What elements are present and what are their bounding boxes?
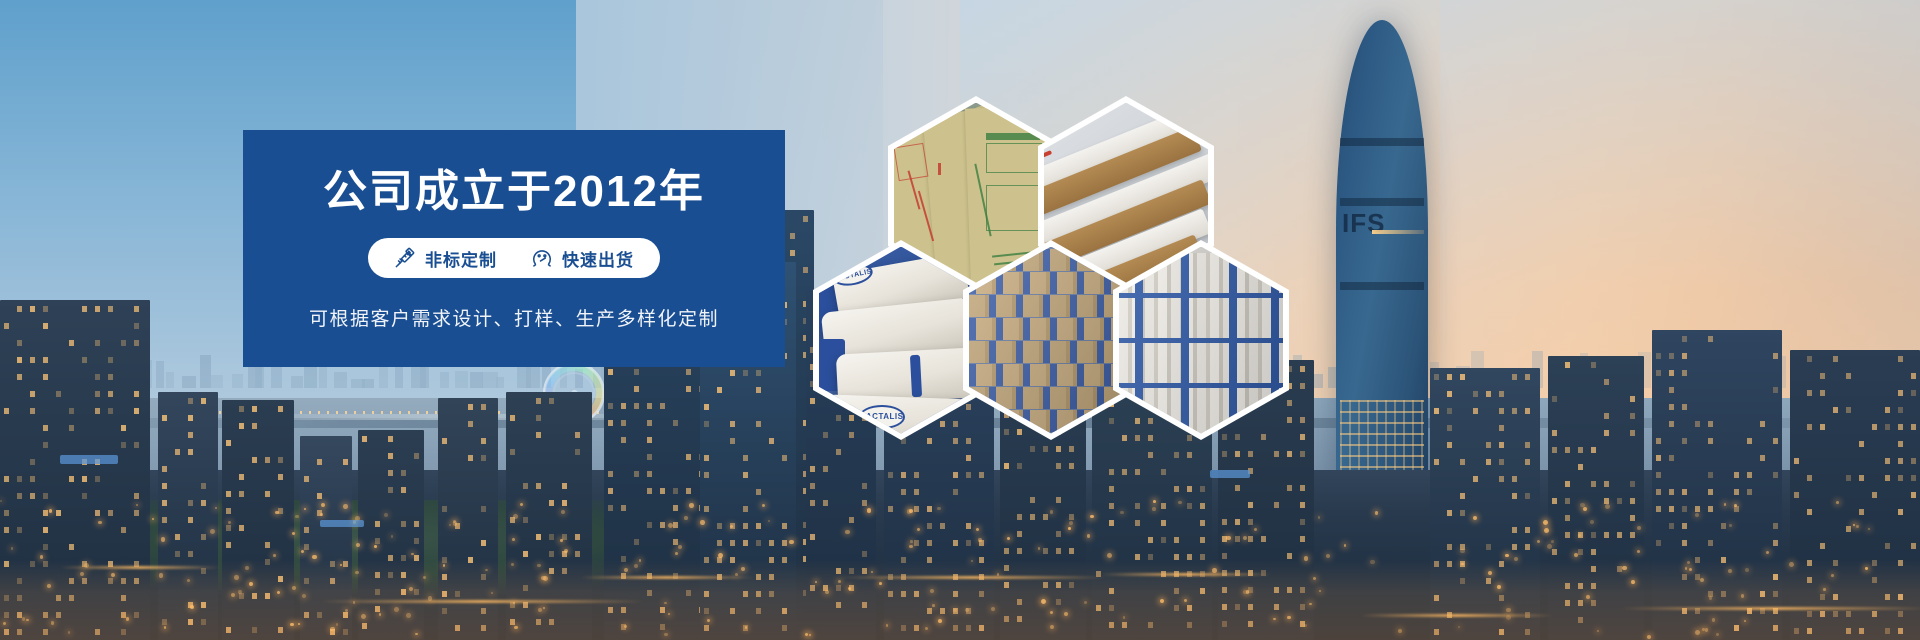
street-light — [1041, 599, 1046, 604]
street-light — [1728, 569, 1732, 573]
street-light — [1064, 612, 1068, 616]
street-light — [561, 510, 565, 514]
street-light — [965, 608, 969, 612]
street-light — [809, 634, 811, 636]
street-light — [930, 589, 934, 593]
street-light — [391, 535, 393, 537]
street-light — [867, 508, 871, 512]
street-light — [406, 613, 411, 618]
street-light — [1695, 630, 1700, 635]
street-light — [1152, 507, 1156, 511]
hero-banner: IFS — [0, 0, 1920, 640]
street-light — [275, 511, 278, 514]
tower-band — [1340, 282, 1425, 290]
street-light — [513, 514, 518, 519]
street-light — [707, 619, 710, 622]
street-light — [1370, 560, 1375, 565]
street-light — [1687, 561, 1690, 564]
street-light — [1836, 501, 1839, 504]
page-title: 公司成立于2012年 — [323, 170, 705, 214]
street-light — [1506, 608, 1511, 613]
street-light — [1551, 540, 1554, 543]
street-light — [336, 623, 338, 625]
street-light — [47, 584, 51, 588]
street-light — [689, 503, 694, 508]
street-light — [273, 554, 276, 557]
street-light — [1631, 580, 1635, 584]
street-light — [355, 571, 358, 574]
street-light — [345, 609, 348, 612]
street-light — [678, 545, 682, 549]
street-light — [312, 555, 316, 559]
street-light — [512, 538, 515, 541]
street-light — [1831, 574, 1834, 577]
street-light — [159, 573, 163, 577]
street-light — [361, 614, 366, 619]
building-sign — [1210, 470, 1250, 478]
street-light — [538, 608, 542, 612]
road-light-ribbon — [1360, 614, 1553, 617]
street-light — [735, 573, 738, 576]
street-light — [340, 564, 342, 566]
street-light — [290, 623, 293, 626]
street-light — [848, 587, 851, 590]
street-light — [161, 537, 166, 542]
street-light — [190, 605, 194, 609]
street-light — [68, 631, 71, 634]
badge-label-custom: 非标定制 — [425, 246, 497, 271]
building-sign — [60, 455, 118, 464]
road-light-ribbon — [1620, 607, 1920, 610]
street-light — [301, 550, 304, 553]
street-light — [1689, 568, 1692, 571]
street-light — [664, 602, 666, 604]
street-light — [1461, 563, 1463, 565]
street-light — [953, 608, 957, 612]
street-light — [1544, 528, 1549, 533]
product-hexagon-gallery: LACTALIS LACTALIS — [790, 80, 1350, 440]
street-light — [909, 545, 912, 548]
street-light — [907, 509, 912, 514]
street-light — [126, 617, 129, 620]
street-light — [1068, 527, 1071, 530]
street-light — [1505, 554, 1508, 557]
street-light — [564, 549, 568, 553]
road-light-ribbon — [580, 576, 754, 579]
street-light — [1243, 536, 1247, 540]
ruler-pencil-icon — [394, 247, 416, 269]
street-light — [379, 613, 381, 615]
street-light — [700, 520, 704, 524]
street-light — [1823, 588, 1825, 590]
street-light — [1537, 540, 1540, 543]
building-sign — [320, 520, 364, 527]
street-light — [228, 521, 231, 524]
street-light — [937, 507, 940, 510]
road-light-ribbon — [1100, 573, 1271, 576]
street-light — [1326, 554, 1330, 558]
street-light — [1178, 501, 1182, 505]
street-light — [1160, 599, 1164, 603]
street-light — [1107, 553, 1112, 558]
street-light — [51, 621, 55, 625]
street-light — [1741, 594, 1744, 597]
street-light — [411, 553, 414, 556]
street-light — [449, 524, 451, 526]
street-light — [1458, 626, 1460, 628]
street-light — [453, 520, 456, 523]
street-light — [1729, 524, 1732, 527]
street-light — [26, 619, 28, 621]
street-light — [374, 545, 377, 548]
street-light — [1789, 562, 1794, 567]
street-light — [292, 532, 295, 535]
street-light — [1622, 566, 1626, 570]
street-light — [491, 592, 493, 594]
street-light — [1497, 585, 1501, 589]
street-light — [624, 568, 628, 572]
street-light — [1695, 513, 1699, 517]
street-light — [879, 582, 882, 585]
street-light — [1050, 510, 1054, 514]
tower-light-strip — [1372, 230, 1424, 234]
street-light — [1865, 567, 1867, 569]
street-light — [164, 626, 166, 628]
street-light-glow — [0, 560, 1920, 640]
street-light — [514, 626, 517, 629]
street-light — [0, 500, 2, 502]
road-light-ribbon — [320, 600, 645, 603]
street-light — [210, 529, 215, 534]
street-light — [1090, 515, 1093, 518]
street-light — [1319, 590, 1321, 592]
street-light — [932, 604, 935, 607]
street-light — [485, 569, 487, 571]
street-light — [991, 607, 995, 611]
street-light — [871, 571, 873, 573]
street-light — [22, 617, 26, 621]
street-light — [356, 543, 360, 547]
street-light — [1856, 525, 1859, 528]
street-light — [231, 593, 235, 597]
street-light — [537, 564, 540, 567]
street-light — [1590, 520, 1594, 524]
street-light — [1473, 516, 1477, 520]
street-light — [1605, 504, 1610, 509]
road-light-ribbon — [840, 576, 1106, 579]
street-light — [187, 579, 190, 582]
street-light — [277, 591, 280, 594]
street-light — [343, 504, 348, 509]
street-light — [634, 564, 638, 568]
road-light-ribbon — [60, 566, 220, 569]
street-light — [245, 566, 249, 570]
street-light — [805, 633, 808, 636]
street-light — [978, 538, 981, 541]
street-light — [394, 607, 399, 612]
street-light — [560, 539, 563, 542]
street-light — [49, 509, 52, 512]
street-light — [741, 567, 745, 571]
street-light — [1580, 503, 1584, 507]
hero-text-panel: 公司成立于2012年 非标定制 — [243, 130, 785, 367]
street-light — [1313, 577, 1316, 580]
badge-label-fast-shipping: 快速出货 — [562, 246, 634, 271]
street-light — [789, 540, 794, 545]
tower-band — [1340, 138, 1425, 146]
hero-subtitle: 可根据客户需求设计、打样、生产多样化定制 — [309, 304, 719, 331]
badge-item-fast-shipping[interactable]: 快速出货 — [531, 246, 634, 271]
street-light — [684, 516, 688, 520]
street-light — [1705, 628, 1709, 632]
street-light — [1304, 556, 1308, 560]
street-light — [415, 633, 417, 635]
street-light — [1578, 534, 1581, 537]
street-light — [1597, 630, 1599, 632]
street-light — [320, 513, 322, 515]
street-light — [1853, 524, 1855, 526]
street-light — [295, 515, 298, 518]
street-light — [910, 540, 913, 543]
street-light — [234, 575, 239, 580]
street-light — [938, 619, 942, 623]
street-light — [1050, 625, 1054, 629]
feature-badge-pill: 非标定制 快速出货 — [368, 238, 660, 278]
street-light — [1574, 553, 1578, 557]
street-light — [1007, 537, 1010, 540]
street-light — [1547, 544, 1552, 549]
badge-item-custom[interactable]: 非标定制 — [394, 246, 497, 271]
street-light — [1586, 595, 1590, 599]
speed-gauge-icon — [531, 247, 553, 269]
street-light — [917, 528, 920, 531]
tower-band — [1340, 198, 1425, 206]
street-light — [976, 528, 979, 531]
